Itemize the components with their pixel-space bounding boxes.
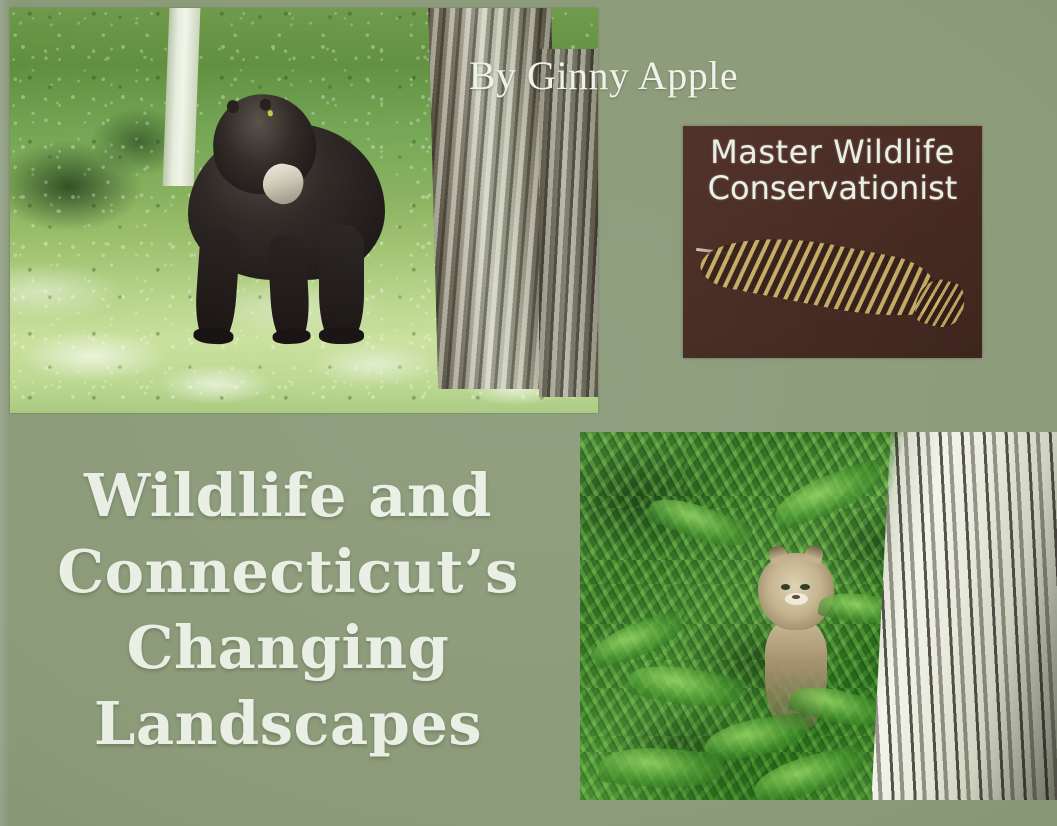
bear-paw: [272, 327, 310, 344]
secondary-tree-trunk: [539, 49, 598, 397]
feather-vane: [697, 221, 947, 329]
bobcat-body: [765, 618, 827, 729]
title-line-4: Landscapes: [8, 686, 568, 762]
bear-ear-left: [226, 100, 240, 114]
byline-text: By Ginny Apple: [469, 56, 738, 96]
bobcat-nose: [792, 595, 800, 599]
presentation-slide: By Ginny Apple Master Wildlife Conservat…: [0, 0, 1057, 826]
title-line-1: Wildlife and: [8, 458, 568, 534]
slide-title: Wildlife and Connecticut’s Changing Land…: [8, 458, 568, 762]
master-wildlife-conservationist-badge: Master Wildlife Conservationist: [683, 126, 982, 358]
badge-title: Master Wildlife Conservationist: [683, 134, 982, 207]
byline: By Ginny Apple: [0, 56, 1057, 96]
bobcat-photo: [580, 432, 1057, 800]
bear-paw: [319, 327, 364, 343]
title-line-3: Changing: [8, 610, 568, 686]
bobcat-eye-right: [800, 584, 810, 590]
bear-hind-leg: [319, 225, 364, 341]
bobcat-head: [758, 553, 834, 630]
feather-icon: [701, 237, 964, 339]
bear-front-leg-right: [267, 234, 310, 341]
bear-front-leg-left: [193, 228, 241, 341]
badge-line-1: Master Wildlife: [710, 133, 955, 171]
bobcat-eye-left: [781, 584, 791, 590]
bobcat-figure: [737, 553, 851, 744]
bear-ear-tag: [268, 110, 274, 117]
title-line-2: Connecticut’s: [8, 534, 568, 610]
white-birch-trunk: [870, 432, 1057, 800]
bear-figure: [169, 89, 404, 340]
badge-line-2: Conservationist: [683, 170, 982, 206]
